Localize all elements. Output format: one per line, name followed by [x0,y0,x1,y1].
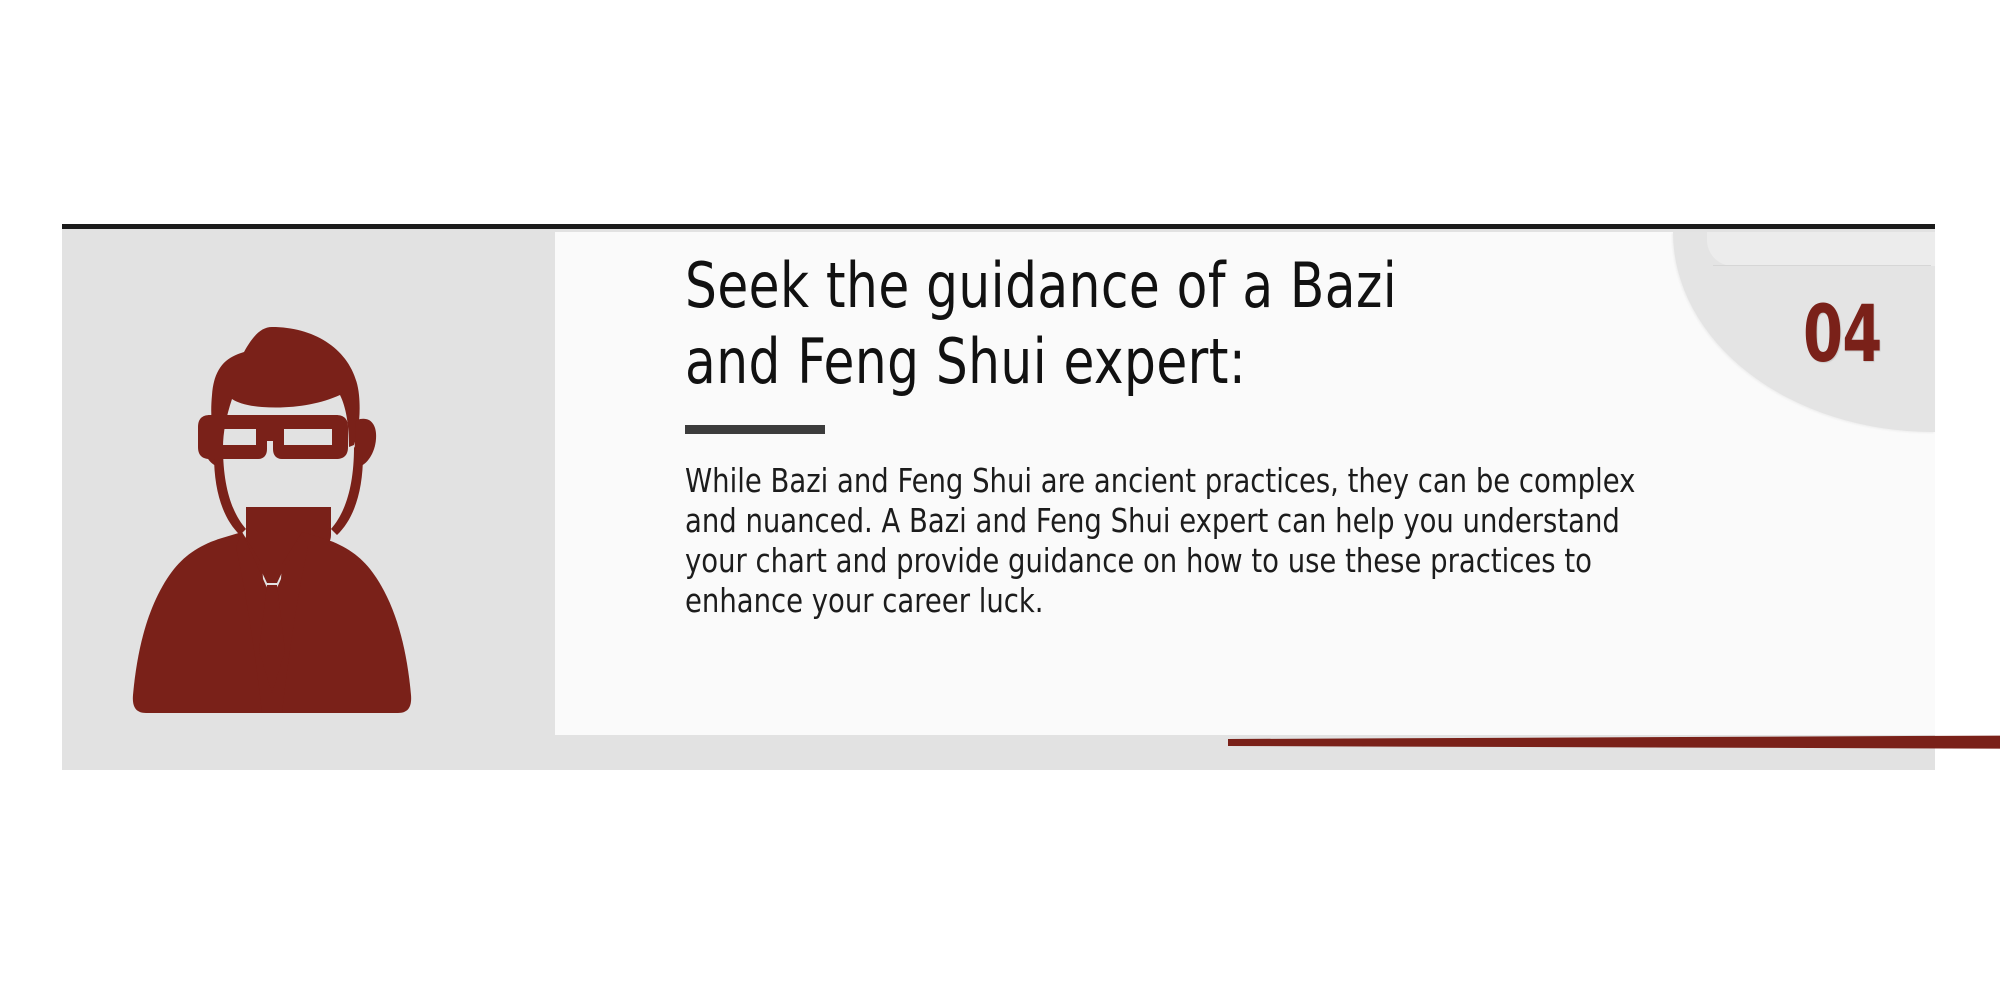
content-band: 04 Seek the guidance of a Bazi and Feng … [62,224,1935,770]
step-number-badge: 04 [1803,296,1881,374]
text-block: Seek the guidance of a Bazi and Feng Shu… [685,248,1685,622]
slide-body-text: While Bazi and Feng Shui are ancient pra… [685,462,1644,622]
corner-fold-notch [1707,232,1935,266]
heading-divider-rule [685,425,825,434]
illustration-panel [62,229,555,770]
content-card: 04 Seek the guidance of a Bazi and Feng … [555,232,1935,735]
businessman-with-glasses-icon [122,321,422,713]
slide-heading: Seek the guidance of a Bazi and Feng Shu… [685,248,1585,399]
red-accent-bar [1228,734,2000,752]
corner-fold-crease-line [1713,265,1931,266]
